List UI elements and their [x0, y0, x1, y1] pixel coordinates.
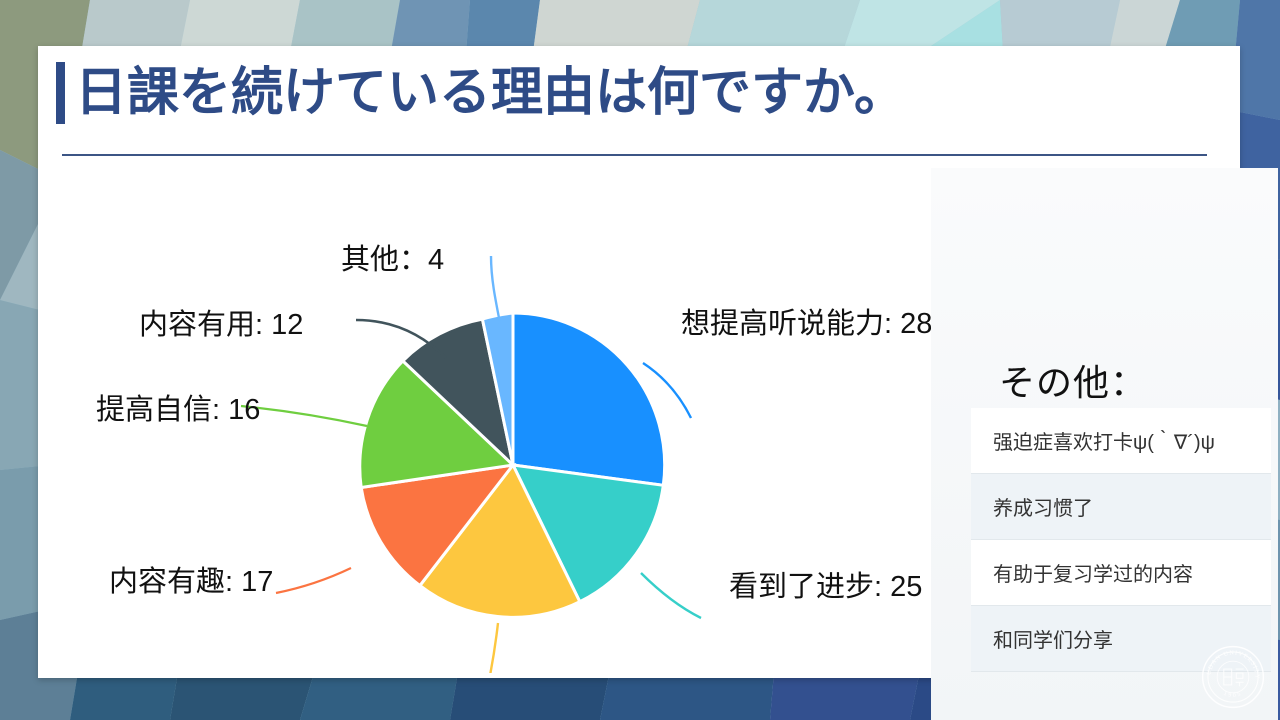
seal-glyph: [1224, 669, 1244, 686]
fudan-university-seal-logo: FUDAN UNIVERSITY 1905: [1200, 644, 1266, 710]
pie-label-0: 想提高听说能力: 28: [681, 300, 932, 342]
seal-year-text: 1905: [1223, 691, 1244, 699]
pie-label-6: 其他：4: [341, 236, 444, 278]
title-accent-bar: [56, 62, 65, 124]
other-answers-title: その他：: [999, 354, 1147, 406]
list-item: 养成习惯了: [971, 474, 1271, 540]
title-divider: [62, 154, 1207, 156]
list-item: 有助于复习学过的内容: [971, 540, 1271, 606]
pie-label-3: 内容有趣: 17: [109, 558, 273, 600]
page-title: 日課を続けている理由は何ですか。: [75, 62, 906, 124]
pie-slices: [360, 313, 665, 617]
leader-line-1: [641, 573, 701, 618]
svg-text:1905: 1905: [1223, 691, 1244, 699]
pie-label-1: 看到了进步: 25: [729, 563, 922, 605]
pie-label-4: 提高自信: 16: [96, 386, 260, 428]
list-item: 强迫症喜欢打卡ψ(｀∇´)ψ: [971, 408, 1271, 474]
slide-card: 日課を続けている理由は何ですか。: [38, 46, 1240, 678]
pie-slice-0: [513, 313, 665, 485]
leader-line-2: [483, 623, 498, 673]
pie-label-5: 内容有用: 12: [139, 301, 303, 343]
other-answers-list: 强迫症喜欢打卡ψ(｀∇´)ψ 养成习惯了 有助于复习学过的内容 和同学们分享: [971, 408, 1271, 672]
slide-title-row: 日課を続けている理由は何ですか。: [56, 62, 906, 124]
pie-chart-panel: 想提高听说能力: 28 看到了进步: 25 课程有要求: 22 内容有趣: 17…: [51, 168, 941, 673]
leader-line-3: [276, 568, 351, 593]
other-answers-panel: その他： 强迫症喜欢打卡ψ(｀∇´)ψ 养成习惯了 有助于复习学过的内容 和同学…: [931, 168, 1278, 720]
